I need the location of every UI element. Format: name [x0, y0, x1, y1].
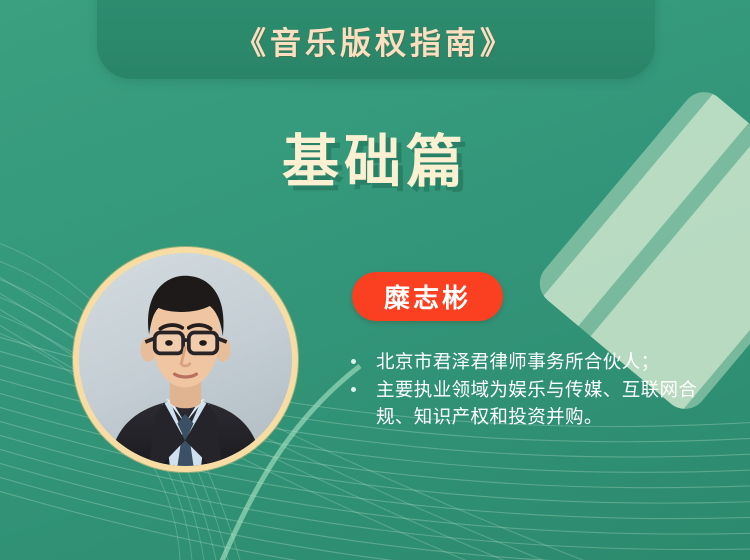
list-item-label: 北京市君泽君律师事务所合伙人；: [376, 351, 660, 372]
list-item: 北京市君泽君律师事务所合伙人；: [346, 348, 708, 375]
list-item-label: 主要执业领域为娱乐与传媒、互联网合规、知识产权和投资并购。: [376, 379, 697, 427]
bullet-dot-icon: [351, 359, 356, 364]
poster-canvas: 《音乐版权指南》 基础篇: [0, 0, 750, 560]
status-badge: 糜志彬: [352, 272, 503, 321]
series-title: 《音乐版权指南》: [0, 18, 750, 63]
portrait-photo-icon: [79, 253, 292, 466]
bullet-dot-icon: [351, 387, 356, 392]
avatar: [73, 247, 298, 472]
list-item: 主要执业领域为娱乐与传媒、互联网合规、知识产权和投资并购。: [346, 376, 708, 430]
page-title: 基础篇: [0, 116, 750, 198]
speaker-bio-list: 北京市君泽君律师事务所合伙人； 主要执业领域为娱乐与传媒、互联网合规、知识产权和…: [346, 348, 708, 431]
